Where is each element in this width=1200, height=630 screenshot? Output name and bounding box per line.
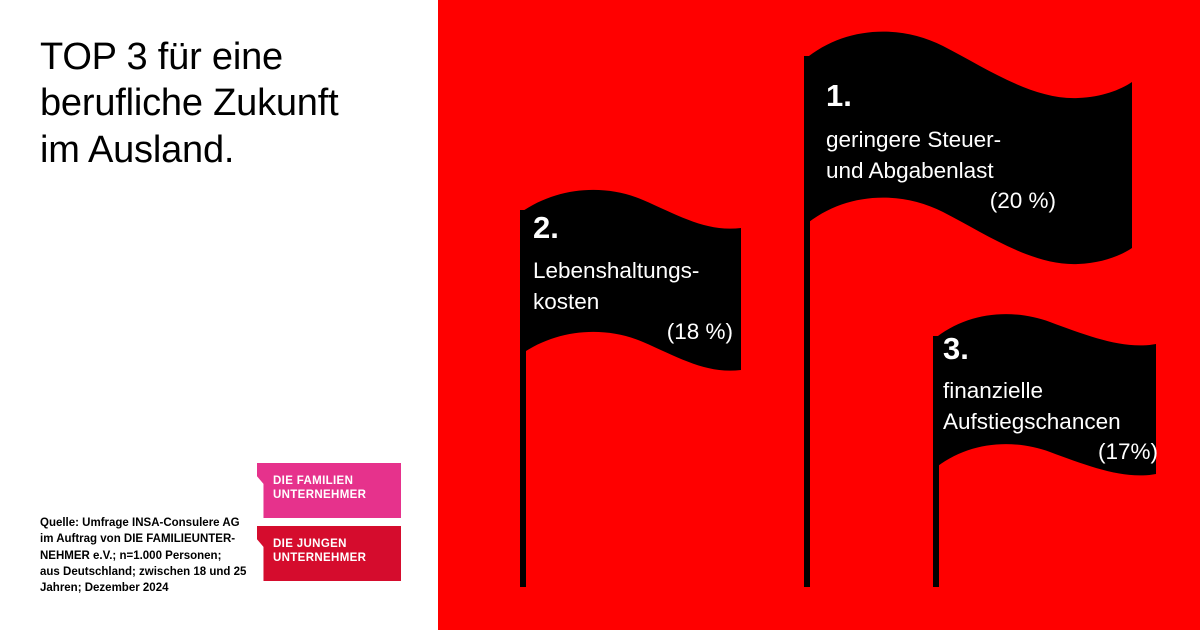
flag-percent-3: (17%) <box>943 437 1158 468</box>
flag-category-1: geringere Steuer- und Abgabenlast <box>826 125 1056 186</box>
flag-rank-3: 3. <box>943 333 1158 364</box>
flag-category-3: finanzielle Aufstiegschancen <box>943 376 1158 437</box>
page-title: TOP 3 für eine berufliche Zukunft im Aus… <box>40 34 420 173</box>
flag-percent-2: (18 %) <box>533 317 733 348</box>
flag-rank-2: 2. <box>533 212 733 243</box>
flag-rank-1: 1. <box>826 80 1056 111</box>
infographic-poster: TOP 3 für eine berufliche Zukunft im Aus… <box>0 0 1200 630</box>
chart-panel: 1. geringere Steuer- und Abgabenlast (20… <box>438 0 1200 630</box>
flag-category-2: Lebenshaltungs- kosten <box>533 256 733 317</box>
flag-label-1: 1. geringere Steuer- und Abgabenlast (20… <box>826 80 1056 217</box>
logo-die-jungen-unternehmer: DIE JUNGEN UNTERNEHMER <box>257 526 401 581</box>
flag-label-2: 2. Lebenshaltungs- kosten (18 %) <box>533 212 733 348</box>
flag-percent-1: (20 %) <box>826 186 1056 217</box>
source-note: Quelle: Umfrage INSA-Consulere AG im Auf… <box>40 515 255 597</box>
left-text-panel: TOP 3 für eine berufliche Zukunft im Aus… <box>0 0 438 630</box>
logo-die-familien-unternehmer: DIE FAMILIEN UNTERNEHMER <box>257 463 401 518</box>
flag-label-3: 3. finanzielle Aufstiegschancen (17%) <box>943 333 1158 468</box>
logo-stack: DIE FAMILIEN UNTERNEHMER DIE JUNGEN UNTE… <box>257 463 401 581</box>
